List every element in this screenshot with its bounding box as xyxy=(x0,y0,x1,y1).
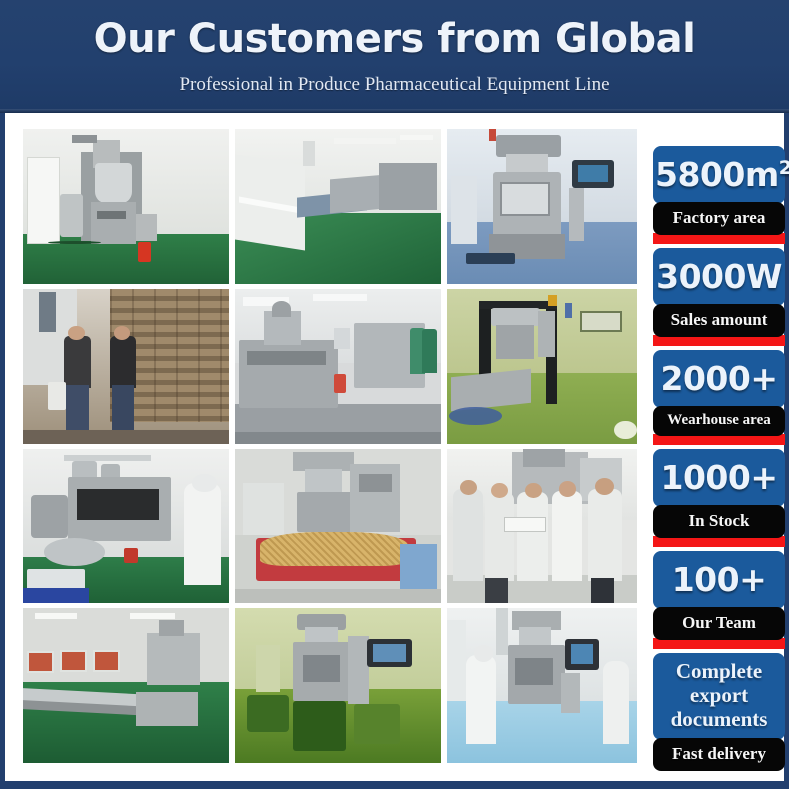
photo-granule-packing-station xyxy=(235,449,441,603)
photo-customer-team-handshake xyxy=(447,449,637,603)
stat-block-3: 1000+ In Stock xyxy=(653,449,785,551)
stat-label-0: Factory area xyxy=(653,202,785,235)
photo-blister-packing-operators xyxy=(235,289,441,444)
stats-column: 5800m2 Factory area 3000W Sales amount 2… xyxy=(653,146,785,766)
stat-block-1: 3000W Sales amount xyxy=(653,248,785,350)
stat-block-0: 5800m2 Factory area xyxy=(653,146,785,248)
stat-block-2: 2000+ Wearhouse area xyxy=(653,350,785,449)
stat-value-1: 3000W xyxy=(653,248,785,306)
photo-capsule-filler-green-room xyxy=(235,608,441,763)
photo-operator-blue-floor-machine xyxy=(447,608,637,763)
stat-block-4: 100+ Our Team xyxy=(653,551,785,653)
stat-label-4: Our Team xyxy=(653,607,785,640)
stat-value-sup-0: 2 xyxy=(779,157,789,179)
stat-label-2: Wearhouse area xyxy=(653,406,785,436)
stat-label-5: Fast delivery xyxy=(653,738,785,771)
photo-conveyor-inspection-line xyxy=(23,608,229,763)
photo-operator-tablet-machine xyxy=(23,449,229,603)
stat-label-1: Sales amount xyxy=(653,304,785,337)
stat-value-text-4: 100+ xyxy=(672,560,767,599)
photo-vertical-packing-green-room xyxy=(447,289,637,444)
page-title: Our Customers from Global xyxy=(0,16,789,62)
page-header: Our Customers from Global Professional i… xyxy=(0,0,789,113)
stat-value-2: 2000+ xyxy=(653,350,785,408)
page-subtitle: Professional in Produce Pharmaceutical E… xyxy=(0,74,789,96)
content-panel: 5800m2 Factory area 3000W Sales amount 2… xyxy=(5,113,784,781)
photo-capsule-filling-machine xyxy=(447,129,637,284)
stat-value-5: Complete export documents xyxy=(653,653,785,740)
stat-block-5: Complete export documents Fast delivery xyxy=(653,653,785,771)
stat-value-text-2: 2000+ xyxy=(661,359,778,398)
stat-value-3: 1000+ xyxy=(653,449,785,507)
stat-value-text-3: 1000+ xyxy=(661,458,778,497)
photo-tablet-press-cleanroom xyxy=(23,129,229,284)
photo-gallery-grid xyxy=(23,129,639,766)
photo-customers-warehouse xyxy=(23,289,229,444)
photo-packaging-line-corridor xyxy=(235,129,441,284)
stat-value-text-0: 5800m xyxy=(655,155,779,194)
stat-value-4: 100+ xyxy=(653,551,785,609)
page-root: Our Customers from Global Professional i… xyxy=(0,0,789,789)
stat-label-3: In Stock xyxy=(653,505,785,538)
stat-value-0: 5800m2 xyxy=(653,146,785,204)
stat-value-text-1: 3000W xyxy=(656,257,782,296)
